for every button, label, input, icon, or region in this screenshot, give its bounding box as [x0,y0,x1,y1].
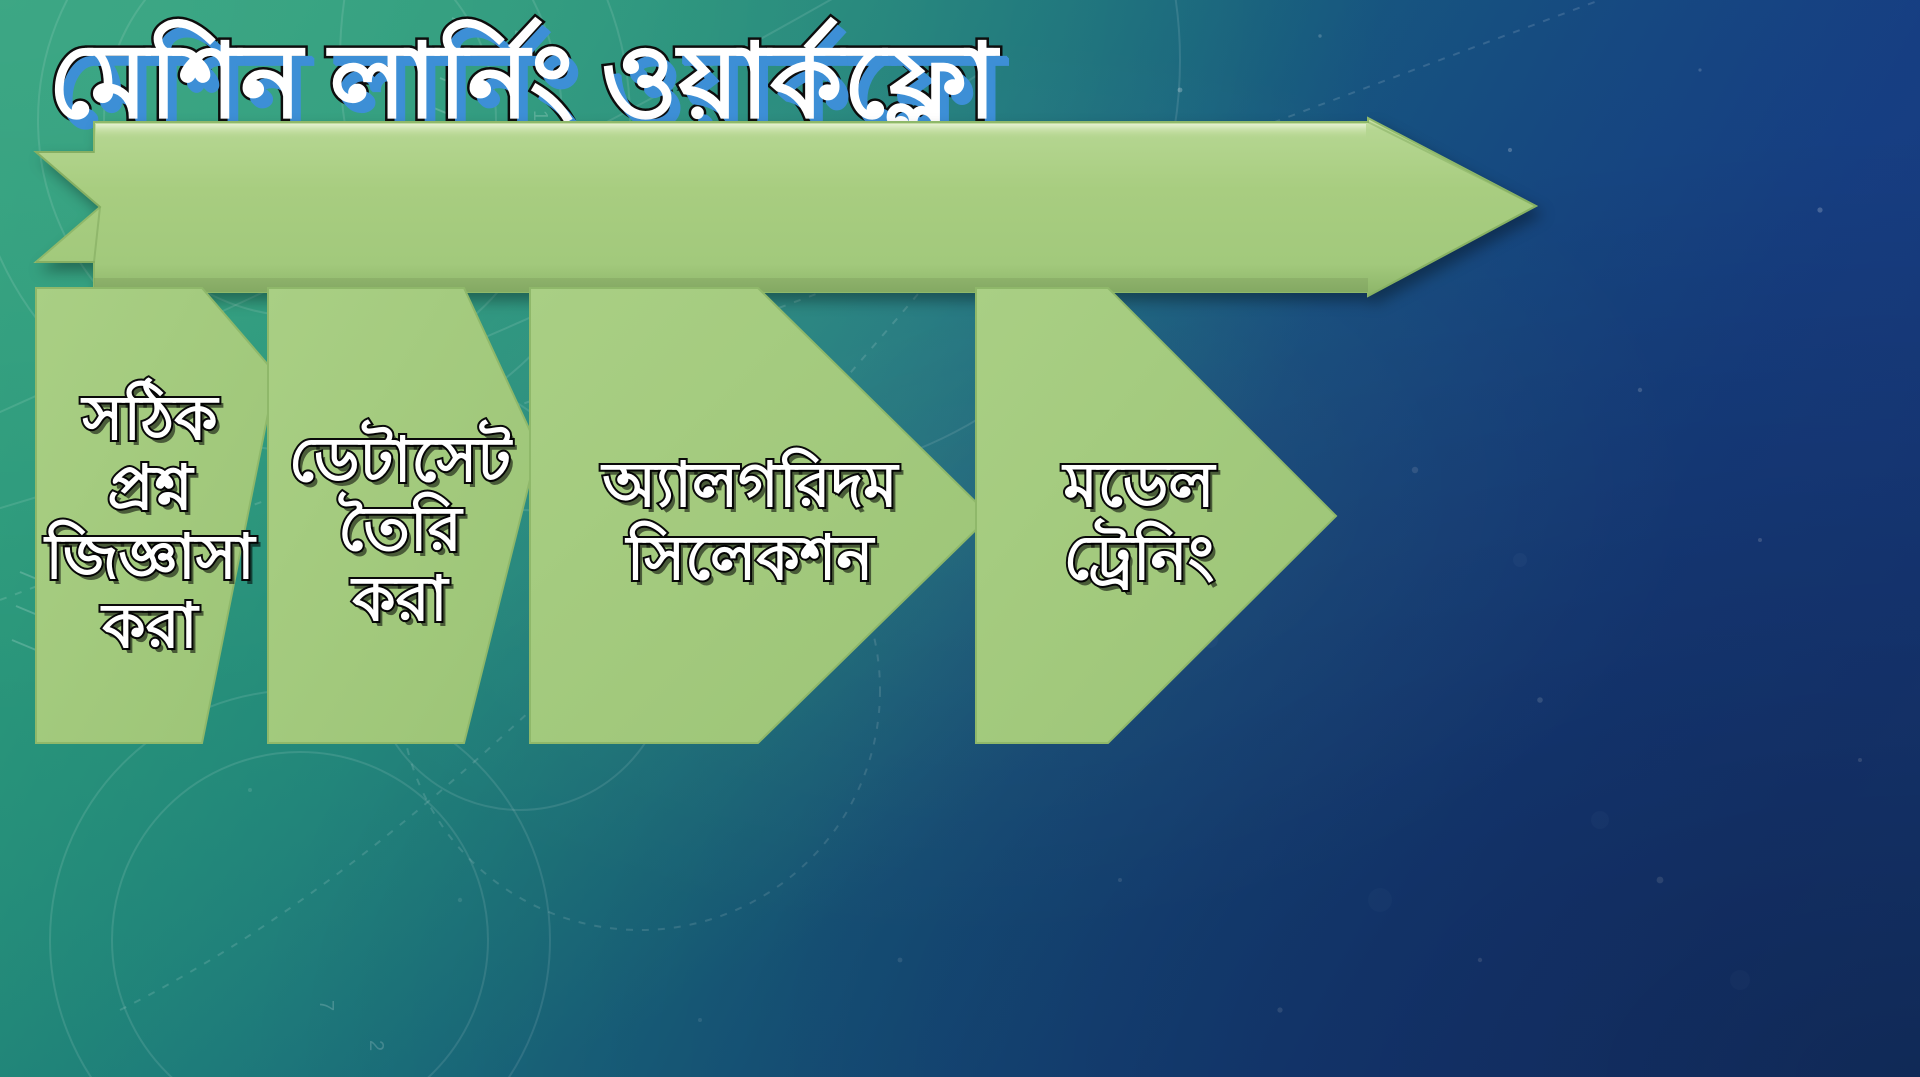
workflow-steps: সঠিক প্রশ্ন জিজ্ঞাসা করা ডেটাসেট তৈরি [0,288,1920,748]
workflow-step-4[interactable]: মডেল ট্রেনিং [976,288,1336,743]
workflow-step-1[interactable]: সঠিক প্রশ্ন জিজ্ঞাসা করা [36,288,276,743]
process-arrow [36,118,1536,300]
slide-canvas: 40 16 180 90 7 2 [0,0,1920,1077]
workflow-step-2[interactable]: ডেটাসেট তৈরি করা [268,288,538,743]
workflow-step-3[interactable]: অ্যালগরিদম সিলেকশন [530,288,990,743]
